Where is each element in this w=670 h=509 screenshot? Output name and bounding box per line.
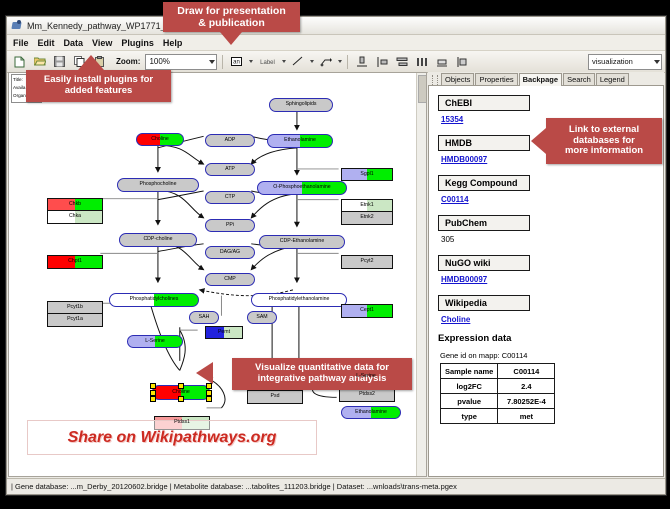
save-file-icon[interactable] [51,53,68,70]
line-tool-icon[interactable] [289,53,306,70]
zoom-combobox[interactable]: 100% [145,54,217,70]
pathway-nodes: CholinePhosphocholineCDP-cholinePhosphat… [9,73,426,476]
gene-node-pcyt1a[interactable]: Pcyt1a [47,313,103,327]
chevron-down-icon[interactable] [209,60,215,64]
tab-backpage[interactable]: Backpage [519,73,562,86]
node-label: CDP-choline [143,237,172,242]
metabolite-node-phosphatidylethanolamine[interactable]: Phosphatidylethanolamine [251,293,347,307]
metabolite-node-ctp[interactable]: CTP [205,191,255,204]
node-label: Phosphatidylcholines [130,297,179,302]
selection-handle-7[interactable] [206,396,212,402]
selection-handle-0[interactable] [150,383,156,389]
node-label: Chpt1 [68,259,82,264]
node-label: Pcyt1a [67,317,83,322]
gene-id-on-mapp: Gene id on mapp: C00114 [440,351,663,360]
status-text: | Gene database: ...m_Derby_20120602.bri… [7,482,457,491]
toolbar-separator-2 [347,55,348,69]
size-equal-icon[interactable] [433,53,450,70]
selection-handle-3[interactable] [150,390,156,396]
metabolite-node-choline-top[interactable]: Choline [136,133,184,146]
node-label: Pcyt1b [67,305,83,310]
gene-node-psd[interactable]: Psd [247,390,303,404]
tab-objects[interactable]: Objects [441,73,474,85]
gene-node-pemt[interactable]: Pemt [205,326,243,339]
align-top-icon[interactable] [353,53,370,70]
scrollbar-thumb[interactable] [418,75,427,103]
node-label: Ptdss2 [359,392,375,397]
callout-visualize-data: Visualize quantitative data for integrat… [232,358,412,390]
info-panel-tabs: Objects Properties Backpage Search Legen… [428,72,664,86]
menu-item-data[interactable]: Data [64,38,84,48]
node-label: Pemt [218,330,230,335]
zoom-value: 100% [149,57,169,66]
menu-item-help[interactable]: Help [163,38,183,48]
node-label: Ethanolamine [284,138,316,143]
db-link-kegg-compound[interactable]: C00114 [441,195,663,204]
db-header-pubchem: PubChem [438,215,530,231]
svg-text:an: an [234,60,241,66]
expr-value-type: met [498,409,555,424]
node-label: Etnk2 [360,215,373,220]
menu-bar: File Edit Data View Plugins Help [7,35,665,51]
gene-node-pcyt2[interactable]: Pcyt2 [341,255,393,269]
db-link-wikipedia[interactable]: Choline [441,315,663,324]
gene-node-chpt1[interactable]: Chpt1 [47,255,103,269]
title-bar: Mm_Kennedy_pathway_WP1771_45176.gpml [7,17,665,35]
node-label: Choline [151,137,169,142]
db-header-kegg-compound: Kegg Compound [438,175,530,191]
callout-draw-text: Draw for presentation & publication [177,5,286,29]
metabolite-node-sah[interactable]: SAH [189,311,219,324]
db-header-wikipedia: Wikipedia [438,295,530,311]
expr-value-sample-name: C00114 [498,364,555,379]
visualization-combobox[interactable]: visualization [588,54,662,70]
panel-drag-grip[interactable] [432,75,438,85]
share-text: Share on Wikipathways.org [68,429,277,447]
distribute-icon[interactable] [413,53,430,70]
metabolite-node-o-phosphoethanolamine[interactable]: O-Phosphoethanolamine [257,181,347,195]
node-label: Psd [271,394,280,399]
app-icon [11,20,23,31]
node-label: Sphingolipids [286,102,317,107]
metabolite-node-cmp[interactable]: CMP [205,273,255,286]
expr-label-log2fc: log2FC [441,379,498,394]
pathway-canvas[interactable]: Title: Availa Organ [8,72,427,477]
table-row: type met [441,409,555,424]
metabolite-node-ethanolamine-top[interactable]: Ethanolamine [267,134,333,148]
selection-handle-1[interactable] [178,383,184,389]
expr-label-type: type [441,409,498,424]
label-tool-icon[interactable]: Label [256,53,278,70]
open-file-icon[interactable] [31,53,48,70]
visualization-chevron-down-icon[interactable] [654,60,660,64]
node-label: SAM [256,315,267,320]
node-label: Pcyt2 [361,259,374,264]
db-header-chebi: ChEBI [438,95,530,111]
node-label: Ethanolamine [355,410,387,415]
node-label: Ptdss1 [174,420,190,425]
expression-data-heading: Expression data [438,333,663,344]
callout-draw-arrow-icon [220,32,242,45]
interaction-dropdown-icon[interactable] [338,60,342,63]
callout-links-text: Link to external databases for more info… [565,125,643,158]
node-label: L-Serine [145,339,165,344]
menu-item-file[interactable]: File [13,38,29,48]
canvas-vertical-scrollbar[interactable] [416,73,426,476]
node-label: Chka [69,214,81,219]
expr-label-sample-name: Sample name [441,364,498,379]
selection-handle-5[interactable] [150,396,156,402]
gene-node-etnk2[interactable]: Etnk2 [341,211,393,225]
line-dropdown-icon[interactable] [310,60,314,63]
gene-node-sgpl1[interactable]: Sgpl1 [341,168,393,181]
datanode-tool-icon[interactable]: an [228,53,245,70]
metabolite-node-ethanolamine-bottom[interactable]: Ethanolamine [341,406,401,419]
node-label: Phosphatidylethanolamine [269,297,330,302]
gene-node-chka[interactable]: Chka [47,210,103,224]
visualization-value: visualization [592,57,633,66]
metabolite-node-adp[interactable]: ADP [205,134,255,147]
node-label: Choline [172,390,190,395]
expr-label-pvalue: pvalue [441,394,498,409]
node-label: DAG/AG [220,250,240,255]
new-file-icon[interactable] [11,53,28,70]
node-label: CTP [225,195,235,200]
node-label: PPi [226,223,234,228]
menu-item-plugins[interactable]: Plugins [121,38,154,48]
align-left-icon[interactable] [373,53,390,70]
node-label: Phosphocholine [140,182,177,187]
tab-search[interactable]: Search [563,73,595,85]
db-value-pubchem: 305 [441,235,663,244]
menu-item-view[interactable]: View [92,38,112,48]
db-header-nugo-wiki: NuGO wiki [438,255,530,271]
svg-text:Label: Label [260,60,275,66]
metabolite-node-sphingolipids[interactable]: Sphingolipids [269,98,333,112]
node-label: Cept1 [360,308,374,313]
stack-icon[interactable] [453,53,470,70]
zoom-label: Zoom: [116,57,140,66]
node-label: CDP-Ethanolamine [280,239,324,244]
node-label: ADP [225,138,236,143]
metabolite-node-atp[interactable]: ATP [205,163,255,176]
metabolite-node-cdp-choline[interactable]: CDP-choline [119,233,197,247]
table-row: pvalue 7.80252E-4 [441,394,555,409]
db-header-hmdb: HMDB [438,135,530,151]
node-label: CMP [224,277,236,282]
metabolite-node-dag-ag[interactable]: DAG/AG [205,246,255,259]
callout-visualize-arrow-icon [196,362,213,384]
callout-draw-for-presentation: Draw for presentation & publication [163,2,300,32]
label-dropdown-icon[interactable] [282,60,286,63]
expr-value-log2fc: 2.4 [498,379,555,394]
align-rows-icon[interactable] [393,53,410,70]
metabolite-node-ppi[interactable]: PPi [205,219,255,232]
metabolite-node-sam[interactable]: SAM [247,311,277,324]
toolbar-separator [222,55,223,69]
table-row: log2FC 2.4 [441,379,555,394]
tab-properties[interactable]: Properties [475,73,517,85]
callout-plugins-arrow-icon [78,55,104,70]
gene-node-cept1[interactable]: Cept1 [341,304,393,318]
expr-value-pvalue: 7.80252E-4 [498,394,555,409]
callout-install-plugins: Easily install plugins for added feature… [26,70,171,102]
metabolite-node-phosphatidylcholine[interactable]: Phosphatidylcholines [109,293,199,307]
selection-handle-2[interactable] [206,383,212,389]
callout-plugins-text: Easily install plugins for added feature… [44,75,153,97]
selection-handle-6[interactable] [178,396,184,402]
metabolite-node-l-serine-left[interactable]: L-Serine [127,335,183,348]
metabolite-node-cdp-ethanolamine[interactable]: CDP-Ethanolamine [259,235,345,249]
node-label: Sgpl1 [360,172,373,177]
menu-item-edit[interactable]: Edit [38,38,55,48]
node-label: SAH [199,315,210,320]
status-bar: | Gene database: ...m_Derby_20120602.bri… [7,478,665,494]
metabolite-node-phosphocholine[interactable]: Phosphocholine [117,178,199,192]
callout-links-arrow-icon [531,128,546,154]
table-row: Sample name C00114 [441,364,555,379]
callout-external-links: Link to external databases for more info… [546,118,662,164]
node-label: ATP [225,167,235,172]
interaction-tool-icon[interactable] [317,53,334,70]
gene-node-ptdss2[interactable]: Ptdss2 [339,388,395,402]
share-wikipathways-banner: Share on Wikipathways.org [27,420,317,455]
db-link-nugo-wiki[interactable]: HMDB00097 [441,275,663,284]
node-label: Chkb [69,202,81,207]
expression-table: Sample name C00114 log2FC 2.4 pvalue 7.8… [440,363,555,424]
node-label: O-Phosphoethanolamine [273,185,330,190]
node-label: L-Serine [356,374,376,379]
node-label: Etnk1 [360,203,373,208]
tab-legend[interactable]: Legend [596,73,629,85]
datanode-dropdown-icon[interactable] [249,60,253,63]
screenshot-root: Mm_Kennedy_pathway_WP1771_45176.gpml Fil… [0,0,670,509]
selection-handle-4[interactable] [206,390,212,396]
